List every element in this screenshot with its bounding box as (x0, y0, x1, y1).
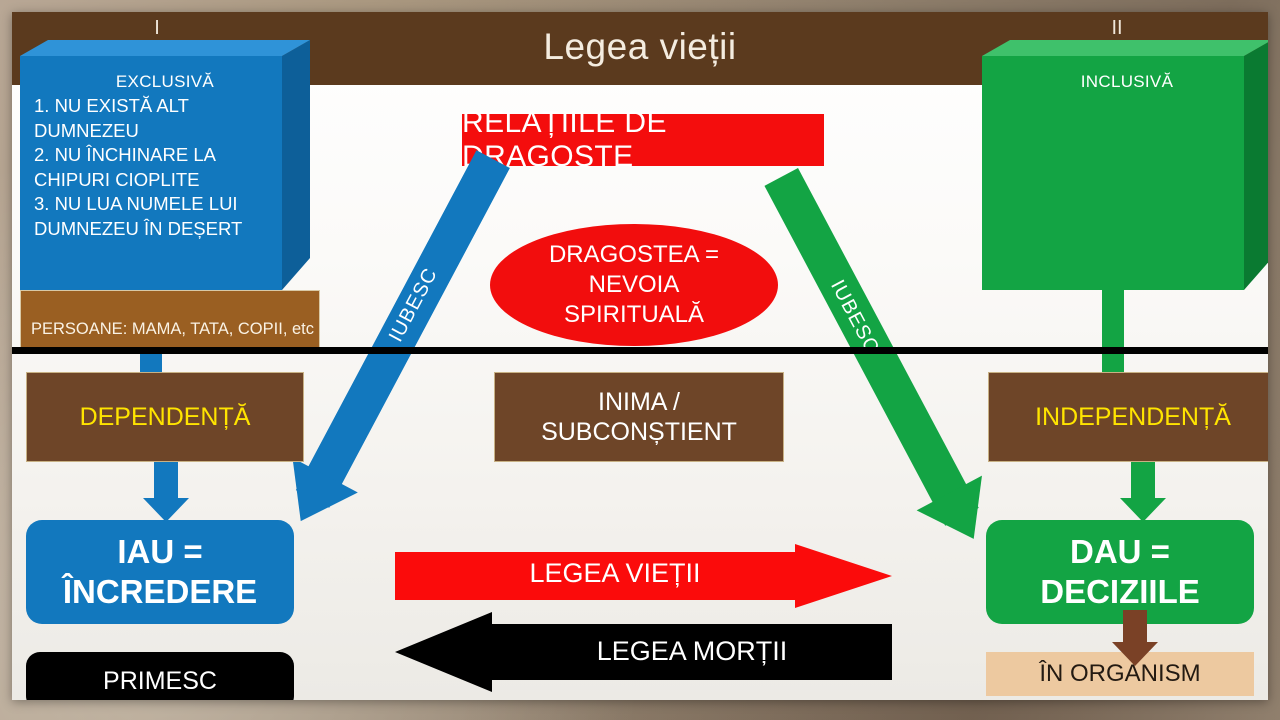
arrow-head (1120, 498, 1166, 522)
arrow-shaft (154, 462, 178, 498)
roman-numeral-one: I (97, 17, 217, 40)
iau-incredere-box: IAU = ÎNCREDERE (26, 520, 294, 624)
primesc-box: PRIMESC (26, 652, 294, 700)
arrow-shaft (1131, 462, 1155, 498)
tablet-inclusiva: INCLUSIVĂ (982, 40, 1268, 290)
tablet-label-exclusiva: EXCLUSIVĂ (20, 72, 310, 92)
slide-backdrop: Legea vieții I II EXCLUSIVĂ 1. NU EXISTĂ… (0, 0, 1280, 720)
arrow-head (1112, 642, 1158, 666)
legea-vietii-label: LEGEA VIEȚII (395, 558, 835, 589)
dependenta-box: DEPENDENȚĂ (26, 372, 304, 462)
legea-vietii-arrow: LEGEA VIEȚII (395, 544, 892, 608)
arrow-head (143, 498, 189, 522)
tablet-top-blue (20, 40, 310, 56)
legea-mortii-label: LEGEA MORȚII (492, 636, 892, 667)
tablet-top-green (982, 40, 1268, 56)
roman-numeral-two: II (1057, 17, 1177, 40)
arrow-shaft (1123, 610, 1147, 642)
horizontal-divider-line (12, 347, 1268, 354)
relatiile-label: RELAȚIILE DE DRAGOSTE (462, 106, 824, 174)
tablet-commandments-list: 1. NU EXISTĂ ALT DUMNEZEU 2. NU ÎNCHINAR… (34, 94, 279, 242)
independenta-box: INDEPENDENȚĂ (988, 372, 1268, 462)
legea-mortii-arrow: LEGEA MORȚII (395, 612, 892, 692)
persoane-box: PERSOANE: MAMA, TATA, COPII, etc (20, 290, 320, 348)
inima-subconstient-box: INIMA / SUBCONȘTIENT (494, 372, 784, 462)
relatiile-de-dragoste-box: RELAȚIILE DE DRAGOSTE (462, 114, 824, 166)
down-arrow-dependenta (143, 462, 189, 522)
down-arrow-independenta (1120, 462, 1166, 522)
slide-canvas: Legea vieții I II EXCLUSIVĂ 1. NU EXISTĂ… (12, 12, 1268, 700)
tablet-label-inclusiva: INCLUSIVĂ (982, 72, 1268, 92)
dau-deciziile-box: DAU = DECIZIILE (986, 520, 1254, 624)
tablet-exclusiva: EXCLUSIVĂ 1. NU EXISTĂ ALT DUMNEZEU 2. N… (20, 40, 310, 290)
down-arrow-organism (1112, 610, 1158, 668)
dragostea-ellipse: DRAGOSTEA = NEVOIA SPIRITUALĂ (490, 224, 778, 346)
